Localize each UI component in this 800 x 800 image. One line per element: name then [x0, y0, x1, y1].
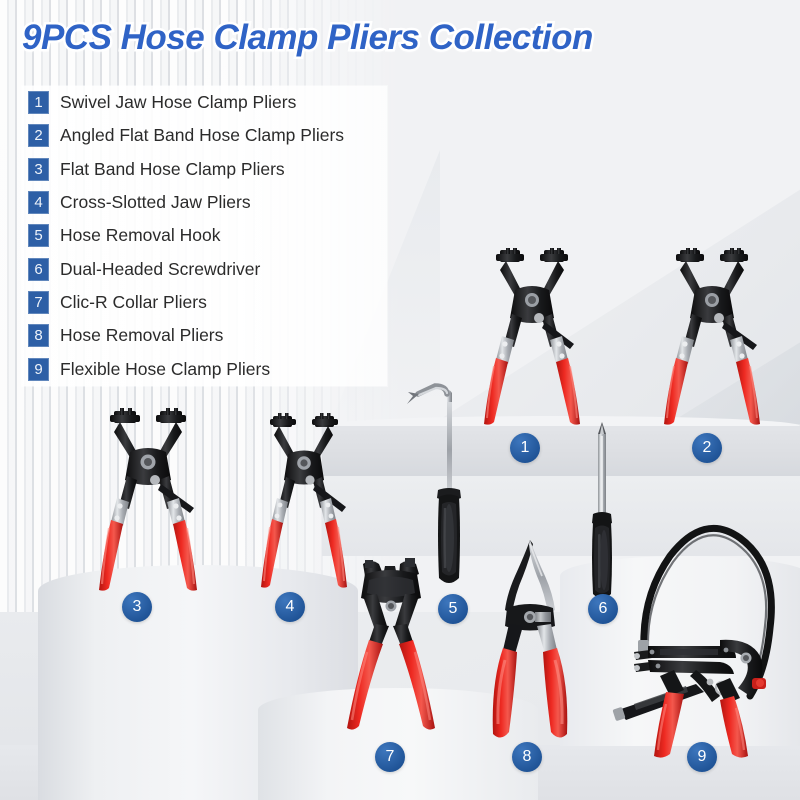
tool-cross-slotted-jaw-pliers: [260, 413, 356, 591]
list-item-label: Hose Removal Hook: [60, 225, 220, 246]
tool-angled-flat-band-hose-clamp-pliers: [662, 248, 772, 428]
list-item: 5 Hose Removal Hook: [22, 219, 387, 252]
list-item-number: 3: [28, 158, 49, 181]
page-title: 9PCS Hose Clamp Pliers Collection: [22, 18, 792, 58]
list-item-label: Flexible Hose Clamp Pliers: [60, 359, 270, 380]
list-item: 9 Flexible Hose Clamp Pliers: [22, 352, 387, 385]
tool-hose-removal-pliers: [485, 538, 575, 753]
list-item-label: Clic-R Collar Pliers: [60, 292, 207, 313]
list-item-label: Swivel Jaw Hose Clamp Pliers: [60, 92, 296, 113]
list-item-label: Angled Flat Band Hose Clamp Pliers: [60, 125, 344, 146]
list-item-label: Flat Band Hose Clamp Pliers: [60, 159, 285, 180]
marker-3: 3: [122, 592, 152, 622]
list-item: 4 Cross-Slotted Jaw Pliers: [22, 186, 387, 219]
list-item-label: Hose Removal Pliers: [60, 325, 223, 346]
list-item-number: 5: [28, 224, 49, 247]
marker-1: 1: [510, 433, 540, 463]
list-item: 3 Flat Band Hose Clamp Pliers: [22, 153, 387, 186]
list-item: 8 Hose Removal Pliers: [22, 319, 387, 352]
marker-2: 2: [692, 433, 722, 463]
list-item-number: 1: [28, 91, 49, 114]
marker-8: 8: [512, 742, 542, 772]
list-item-number: 4: [28, 191, 49, 214]
list-item: 6 Dual-Headed Screwdriver: [22, 252, 387, 285]
list-item-number: 9: [28, 358, 49, 381]
list-item-number: 2: [28, 124, 49, 147]
tool-flexible-hose-clamp-pliers: [600, 500, 800, 760]
product-list-panel: 1 Swivel Jaw Hose Clamp Pliers 2 Angled …: [22, 86, 387, 386]
list-item-number: 7: [28, 291, 49, 314]
list-item: 7 Clic-R Collar Pliers: [22, 286, 387, 319]
list-item: 2 Angled Flat Band Hose Clamp Pliers: [22, 119, 387, 152]
tool-clic-r-collar-pliers: [345, 556, 450, 751]
list-item-number: 8: [28, 324, 49, 347]
list-item-label: Cross-Slotted Jaw Pliers: [60, 192, 251, 213]
list-item-number: 6: [28, 258, 49, 281]
platform-step-upper: [322, 424, 800, 476]
list-item: 1 Swivel Jaw Hose Clamp Pliers: [22, 86, 387, 119]
tool-swivel-jaw-hose-clamp-pliers: [482, 248, 592, 428]
marker-9: 9: [687, 742, 717, 772]
product-infographic: 9PCS Hose Clamp Pliers Collection 1 Swiv…: [0, 0, 800, 800]
tool-flat-band-hose-clamp-pliers: [98, 408, 208, 593]
list-item-label: Dual-Headed Screwdriver: [60, 259, 260, 280]
marker-4: 4: [275, 592, 305, 622]
marker-7: 7: [375, 742, 405, 772]
